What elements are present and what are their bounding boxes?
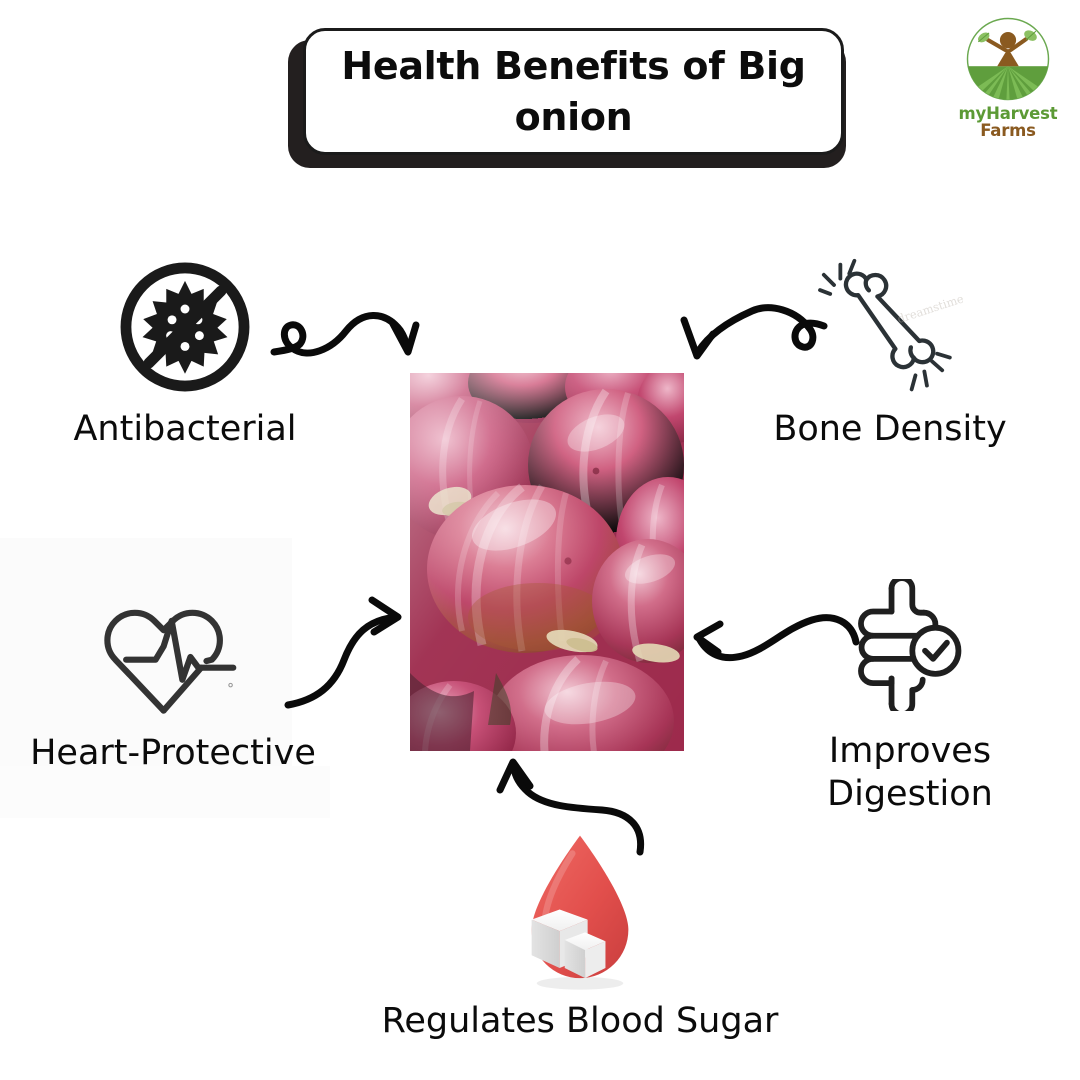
farmer-with-harvest-circle-logo [963, 14, 1053, 104]
center-onion-photo [410, 373, 684, 751]
infographic-poster: Health Benefits of Big onion [0, 0, 1080, 1080]
benefit-icon-wrap: dreamstime [740, 252, 1040, 402]
benefit-heart-protective: Heart-Protective [8, 578, 338, 775]
benefit-icon-wrap [790, 570, 1030, 720]
benefit-icon-wrap [8, 578, 338, 728]
brand-logo[interactable]: myHarvest Farms [952, 14, 1064, 150]
intestine-check-icon [850, 579, 970, 711]
benefit-icon-wrap [360, 828, 800, 996]
brand-name-line2: Farms [952, 122, 1064, 140]
red-onions-photo [410, 373, 684, 751]
benefit-improves-digestion: Improves Digestion [790, 570, 1030, 815]
benefit-label-heart-protective: Heart-Protective [8, 732, 338, 775]
benefit-icon-wrap [30, 252, 340, 402]
title-card: Health Benefits of Big onion [303, 28, 844, 155]
benefit-label-improves-digestion: Improves Digestion [790, 730, 1030, 815]
page-title: Health Benefits of Big onion [306, 41, 841, 141]
brand-name-line1: myHarvest [952, 105, 1064, 122]
benefit-label-antibacterial: Antibacterial [30, 408, 340, 451]
watermark-text: dreamstime [896, 291, 963, 326]
heart-pulse-icon [94, 583, 252, 723]
benefit-label-regulates-blood-sugar: Regulates Blood Sugar [360, 1000, 800, 1043]
benefit-regulates-blood-sugar: Regulates Blood Sugar [360, 828, 800, 1043]
benefit-bone-density: dreamstime Bone Density [740, 252, 1040, 451]
blood-drop-sugar-cubes-icon [516, 828, 644, 996]
benefit-antibacterial: Antibacterial [30, 252, 340, 451]
benefit-label-bone-density: Bone Density [740, 408, 1040, 451]
bone-icon: dreamstime [817, 257, 963, 397]
no-bacteria-icon [113, 255, 257, 399]
